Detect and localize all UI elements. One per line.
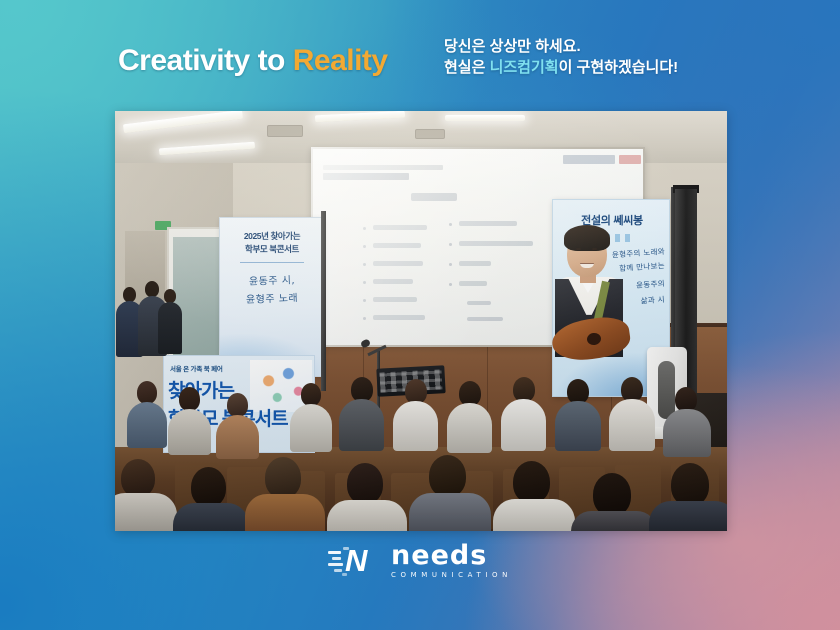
slide-bullet-line [373,315,425,320]
person-head [429,455,466,497]
slide-bullet-dot [363,245,366,248]
subtitle-line-2: 현실은 니즈컴기획이 구현하겠습니다! [444,57,678,78]
left-banner-line-1: 2025년 찾아가는 [220,230,324,242]
person-head [347,463,383,504]
person-head [121,459,155,497]
slide-bullet-line [373,243,421,248]
slide-subtitle-line [323,165,443,170]
bladeless-fan-opening [658,361,675,419]
performer-eye [592,248,597,250]
logo-letter-n: N [345,545,365,576]
left-banner-handwriting-1: 윤동주 시, [220,270,324,289]
person-head [593,473,631,516]
logo-speed-trail [328,551,341,554]
person-body [115,493,177,531]
page-title: Creativity to Reality [118,44,388,78]
person-body [245,494,325,531]
person-head [123,287,136,302]
slide-bullet-dot [449,263,452,266]
person-head [301,383,321,406]
performer-hair [564,225,610,251]
person-body [216,415,259,459]
slide-section-title [411,193,457,201]
left-banner-divider [240,262,304,263]
person-body [501,399,546,451]
ceiling-vent [415,129,445,139]
right-banner-title: 전설의 쎄씨봉 [553,212,670,228]
slide-bullet-dot [449,243,452,246]
slide-bullet-line [459,241,533,246]
left-banner-handwriting-2: 윤형주 노래 [220,288,324,307]
event-photo: 2025년 찾아가는 학부모 북콘서트 윤동주 시, 윤형주 노래 전설의 쎄씨… [115,111,727,531]
header: Creativity to Reality 당신은 상상만 하세요. 현실은 니… [0,0,840,111]
slide-bullet-line [373,261,423,266]
subtitle-block: 당신은 상상만 하세요. 현실은 니즈컴기획이 구현하겠습니다! [444,36,678,79]
slide-heading-line [323,173,409,180]
person-head [671,463,709,506]
slide-bullet-dot [363,227,366,230]
slide-bullet-line [459,281,487,286]
person-body [447,403,492,453]
logo-speed-trail [332,557,341,560]
person-body [173,503,249,531]
person-head [137,381,157,404]
person-body [290,404,332,452]
logo-speed-trail [328,563,343,566]
person-body [649,501,727,531]
subtitle-line2-pre: 현실은 [444,59,490,76]
person-head [265,457,301,498]
person-head [164,289,176,303]
person-body [127,402,167,448]
person-head [191,467,226,507]
performer-eye [576,248,581,250]
slide-bullet-line [373,297,417,302]
person-body [339,399,384,451]
person-body [168,409,211,455]
slide-bullet-dot [363,299,366,302]
person-body [158,302,182,354]
logo-wordmark: needs COMMUNICATION [391,542,512,579]
left-banner-line-2: 학부모 북콘서트 [220,243,324,255]
slide-bullet-dot [449,283,452,286]
slide-bullet-dot [449,223,452,226]
slide-logo-primary [563,155,615,164]
person-body [609,399,655,451]
person-body [409,493,491,531]
slide-bullet-line [373,225,427,230]
bottom-banner-small-text: 서울 온 가족 북 페어 [170,363,223,373]
right-banner-handwriting-1: 윤형주의 노래와 [603,246,666,261]
slide-bullet-line [459,221,517,226]
ceiling-light [445,115,525,121]
title-main-text: Creativity to [118,44,293,77]
slide-bullet-line [459,261,491,266]
needs-n-mark-icon: N [328,545,382,577]
bottom-banner-big-text-1: 찾아가는 [168,376,234,403]
left-banner-pole [321,211,326,391]
subtitle-line-1: 당신은 상상만 하세요. [444,36,678,57]
person-head [227,393,248,417]
logo-speed-trail [334,569,342,572]
person-body [327,500,407,531]
slide-logo-secondary [619,155,641,164]
slide-bullet-dot [363,281,366,284]
needs-communication-logo: N needs COMMUNICATION [328,542,512,579]
subtitle-brand-name: 니즈컴기획 [490,59,559,76]
person-head [513,461,550,503]
left-standing-banner: 2025년 찾아가는 학부모 북콘서트 윤동주 시, 윤형주 노래 [219,217,323,377]
slide-bullet-dot [363,263,366,266]
slide-subbullet-line [467,317,503,321]
person-body [555,401,601,451]
person-body [663,409,711,457]
right-banner-handwriting-2: 함께 만나보는 [603,260,666,275]
slide-subbullet-line [467,301,491,305]
ceiling-vent [267,125,303,137]
title-accent-text: Reality [293,44,388,77]
person-body [393,401,438,451]
logo-tagline: COMMUNICATION [391,571,512,579]
subtitle-line2-post: 이 구현하겠습니다! [559,59,679,76]
person-head [179,387,200,411]
slide-bullet-line [373,279,413,284]
person-body [571,511,657,531]
slide-bullet-dot [363,317,366,320]
footer: N needs COMMUNICATION [0,536,840,594]
person-head [145,281,159,297]
person-body [493,499,575,531]
logo-brand-name: needs [391,542,512,569]
